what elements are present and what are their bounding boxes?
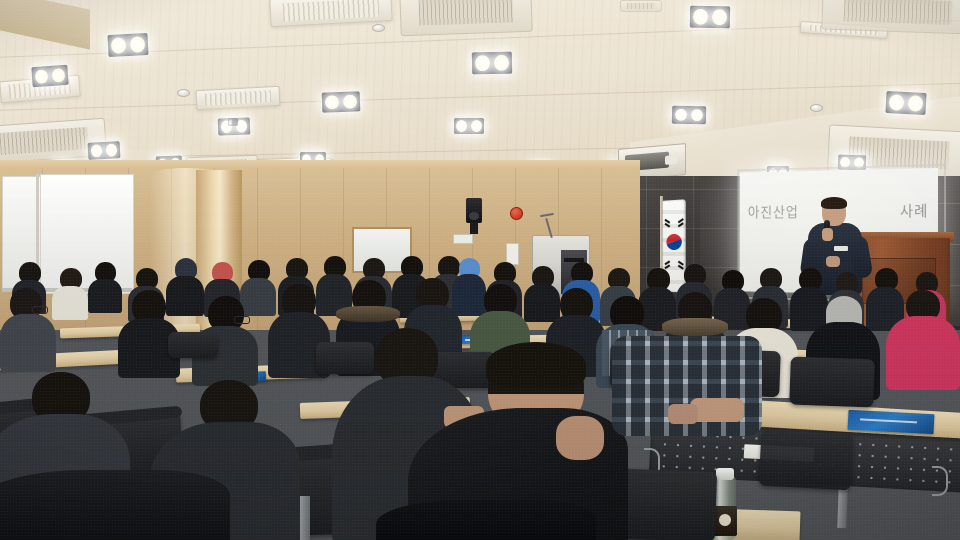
hand (668, 404, 698, 424)
speaker-mount-bracket (470, 222, 478, 234)
eyeglasses-icon (32, 306, 48, 314)
recessed-ceiling-downlight (107, 33, 148, 57)
recessed-ceiling-downlight (672, 106, 706, 125)
recessed-ceiling-downlight (228, 118, 238, 126)
audience-silhouette (376, 500, 596, 540)
audience-member-foreground (612, 336, 762, 456)
chair-back[interactable] (789, 357, 875, 408)
fur-hood-trim (662, 318, 728, 336)
presenter-hair (821, 197, 847, 209)
recessed-ceiling-downlight (690, 6, 730, 29)
fur-hood-trim (336, 306, 400, 322)
hair (486, 342, 586, 388)
recessed-ceiling-downlight (472, 52, 512, 75)
desk-cable-hook (932, 466, 948, 496)
audience-member (88, 262, 122, 310)
recessed-ceiling-downlight (31, 65, 68, 87)
chair-back[interactable] (168, 332, 218, 358)
ceiling-cassette-air-conditioner (620, 0, 662, 12)
lecture-hall-photo: 아진산업 사례 기업 혁신 성공 사례 발표 (0, 0, 960, 540)
audience-member (52, 268, 88, 316)
recessed-ceiling-downlight (454, 118, 484, 134)
recessed-ceiling-downlight (885, 91, 926, 115)
presenter-name-badge (834, 246, 848, 251)
recessed-ceiling-downlight (322, 91, 361, 112)
audience-member (886, 290, 960, 386)
bottle-label (713, 506, 737, 536)
hand-on-chin (556, 416, 604, 460)
slide-title-left: 아진산업 (748, 202, 799, 222)
hand (690, 398, 744, 422)
presenter-gesturing-hand (826, 256, 840, 267)
chair-back[interactable] (759, 430, 854, 491)
audience-member (0, 288, 56, 368)
chair-leg (300, 496, 310, 540)
ceiling-cassette-air-conditioner (821, 0, 960, 35)
smoke-detector (177, 89, 190, 97)
recessed-ceiling-downlight (88, 141, 121, 160)
eyeglasses-icon (234, 316, 250, 324)
speaker-icon (466, 198, 482, 223)
audience-silhouette (0, 470, 230, 540)
bottle-cap (716, 468, 734, 480)
desk-leg (837, 486, 847, 528)
smoke-detector (372, 24, 385, 32)
smoke-detector (810, 104, 823, 112)
slide-title-right: 사례 (900, 200, 928, 221)
wall-sign-plate (453, 234, 473, 244)
presenter-hand-holding-mic (822, 228, 833, 241)
ceiling-cassette-air-conditioner (399, 0, 533, 36)
fire-alarm-bell-icon (510, 207, 523, 220)
